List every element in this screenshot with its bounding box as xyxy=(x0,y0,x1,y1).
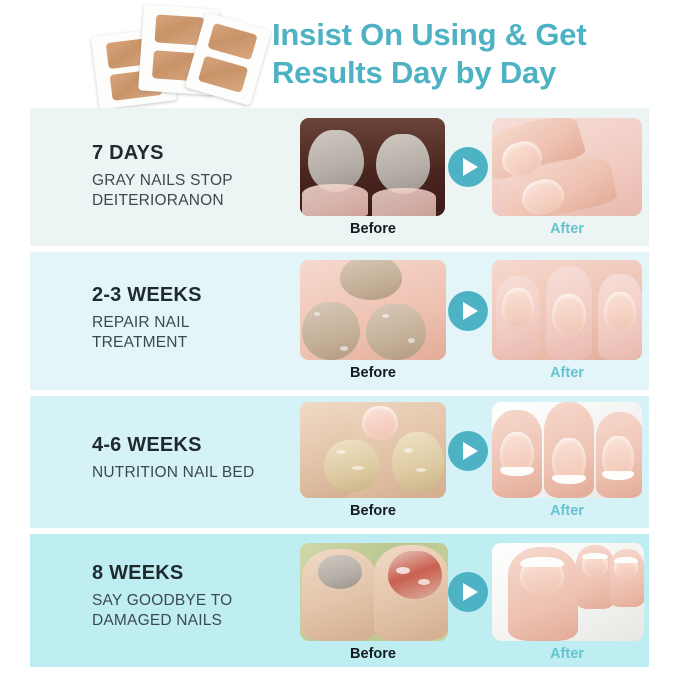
page-title: Insist On Using & Get Results Day by Day xyxy=(272,16,672,92)
nail xyxy=(614,557,638,579)
row-subtitle-line1: SAY GOODBYE TO xyxy=(92,591,312,611)
page-title-line2: Results Day by Day xyxy=(272,54,672,92)
patch-pad xyxy=(207,23,257,60)
timeline-row: 2-3 WEEKS REPAIR NAIL TREATMENT Before xyxy=(30,252,649,390)
patch-pad xyxy=(198,56,248,93)
before-label: Before xyxy=(298,503,448,519)
before-label: Before xyxy=(298,221,448,237)
after-label: After xyxy=(492,221,642,237)
play-button[interactable] xyxy=(448,291,488,331)
play-button[interactable] xyxy=(448,147,488,187)
after-photo-content xyxy=(492,543,644,641)
after-label: After xyxy=(492,503,642,519)
before-label: Before xyxy=(298,646,448,662)
nail-damage-speck xyxy=(314,312,320,316)
nail-damage-speck xyxy=(340,346,348,351)
nail-damage-speck xyxy=(352,466,364,470)
after-photo xyxy=(492,402,642,498)
row-subtitle: GRAY NAILS STOP DEITERIORANON xyxy=(92,171,312,212)
nail-damage-speck xyxy=(382,314,389,318)
after-label: After xyxy=(492,646,642,662)
after-photo-content xyxy=(492,402,642,498)
row-caption: 4-6 WEEKS NUTRITION NAIL BED xyxy=(92,434,312,483)
play-triangle-icon xyxy=(463,583,478,601)
play-triangle-icon xyxy=(463,158,478,176)
nail xyxy=(602,436,634,480)
finger xyxy=(302,184,368,216)
row-subtitle-line1: NUTRITION NAIL BED xyxy=(92,463,312,483)
play-button[interactable] xyxy=(448,431,488,471)
finger xyxy=(372,188,436,216)
nail-damage-speck xyxy=(416,468,426,472)
timeline-row: 8 WEEKS SAY GOODBYE TO DAMAGED NAILS Bef… xyxy=(30,534,649,667)
before-photo xyxy=(300,543,448,641)
toenail-tip xyxy=(614,557,638,563)
before-photo xyxy=(300,260,446,360)
row-subtitle-line2: DAMAGED NAILS xyxy=(92,611,312,631)
toenail-tip xyxy=(520,557,564,567)
row-subtitle-line1: GRAY NAILS STOP xyxy=(92,171,312,191)
after-photo xyxy=(492,543,644,641)
nail-damage-speck xyxy=(404,448,413,453)
row-title: 7 DAYS xyxy=(92,142,312,165)
after-photo-content xyxy=(492,260,642,360)
before-photo-content xyxy=(300,402,446,498)
row-subtitle: SAY GOODBYE TO DAMAGED NAILS xyxy=(92,591,312,632)
row-title: 4-6 WEEKS xyxy=(92,434,312,457)
nail-damage-speck xyxy=(408,338,415,343)
nail xyxy=(520,557,564,595)
before-photo-content xyxy=(300,118,445,216)
nail xyxy=(500,432,534,476)
row-caption: 2-3 WEEKS REPAIR NAIL TREATMENT xyxy=(92,284,312,354)
header: Insist On Using & Get Results Day by Day xyxy=(0,0,679,108)
before-photo xyxy=(300,402,446,498)
nail xyxy=(388,551,442,599)
nail xyxy=(366,304,426,360)
before-photo xyxy=(300,118,445,216)
nail-damage-speck xyxy=(336,450,346,454)
row-caption: 8 WEEKS SAY GOODBYE TO DAMAGED NAILS xyxy=(92,562,312,632)
nail xyxy=(362,406,398,440)
page-title-line1: Insist On Using & Get xyxy=(272,16,672,54)
before-label: Before xyxy=(298,365,448,381)
nail-damage-speck xyxy=(418,579,430,585)
nail xyxy=(392,432,444,492)
nail-damage-speck xyxy=(396,567,410,574)
timeline-row: 7 DAYS GRAY NAILS STOP DEITERIORANON Bef… xyxy=(30,108,649,246)
nail xyxy=(604,292,636,332)
nail xyxy=(308,130,364,192)
play-triangle-icon xyxy=(463,442,478,460)
toenail-tip xyxy=(582,553,608,559)
after-photo xyxy=(492,118,642,216)
nail xyxy=(552,294,586,336)
after-photo-content xyxy=(492,118,642,216)
nail xyxy=(376,134,430,194)
after-photo xyxy=(492,260,642,360)
row-subtitle-line2: TREATMENT xyxy=(92,333,312,353)
nail xyxy=(340,260,402,300)
nail xyxy=(502,288,534,328)
row-subtitle: NUTRITION NAIL BED xyxy=(92,463,312,483)
row-subtitle-line2: DEITERIORANON xyxy=(92,191,312,211)
row-subtitle: REPAIR NAIL TREATMENT xyxy=(92,313,312,354)
nail-patch-sachets-icon xyxy=(93,6,261,106)
before-photo-content xyxy=(300,543,448,641)
row-caption: 7 DAYS GRAY NAILS STOP DEITERIORANON xyxy=(92,142,312,212)
row-title: 2-3 WEEKS xyxy=(92,284,312,307)
nail xyxy=(302,302,360,360)
before-photo-content xyxy=(300,260,446,360)
nail xyxy=(582,553,608,577)
nail xyxy=(318,555,362,589)
infographic-page: Insist On Using & Get Results Day by Day… xyxy=(0,0,679,679)
play-triangle-icon xyxy=(463,302,478,320)
timeline-row: 4-6 WEEKS NUTRITION NAIL BED Before xyxy=(30,396,649,528)
play-button[interactable] xyxy=(448,572,488,612)
after-label: After xyxy=(492,365,642,381)
row-subtitle-line1: REPAIR NAIL xyxy=(92,313,312,333)
row-title: 8 WEEKS xyxy=(92,562,312,585)
nail xyxy=(552,438,586,484)
